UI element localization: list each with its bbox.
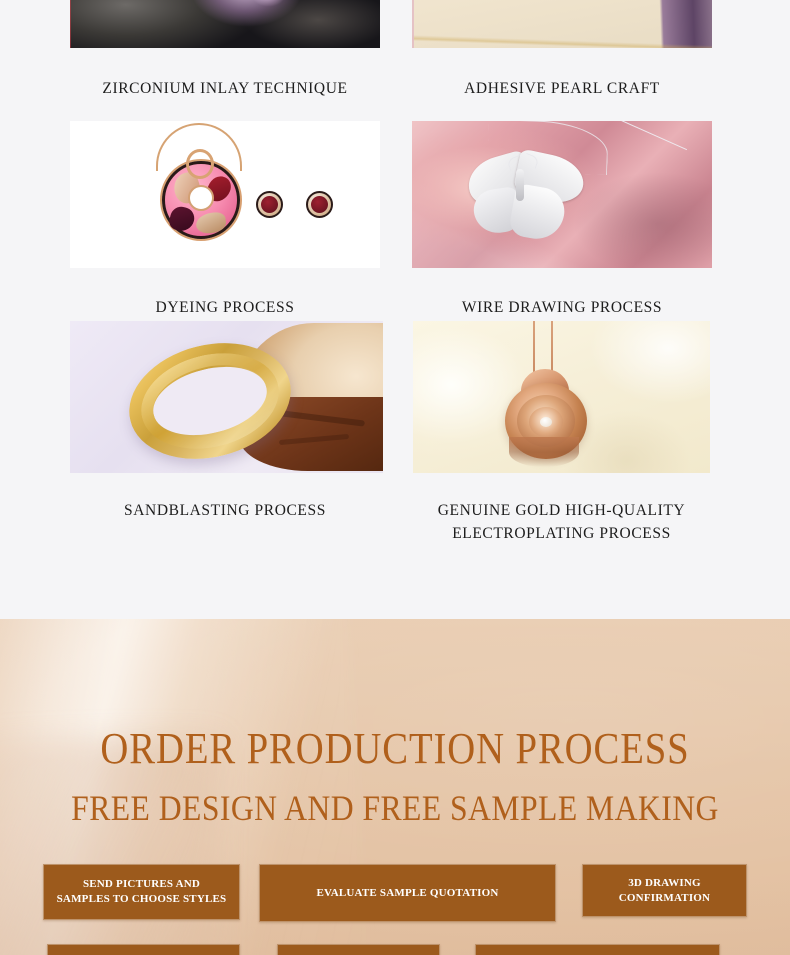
gold-electroplating-rose-pendant-photo — [413, 321, 710, 473]
craft-card-zirconium-inlay[interactable]: ZIRCONIUM INLAY TECHNIQUE — [70, 0, 380, 100]
craft-row-3: SANDBLASTING PROCESS GENUINE GOLD HIGH-Q… — [0, 321, 790, 551]
craft-card-gold-electroplating[interactable]: GENUINE GOLD HIGH-QUALITY ELECTROPLATING… — [413, 321, 710, 545]
process-steps-row-2 — [0, 944, 790, 955]
dyeing-process-pendant-photo — [70, 121, 380, 268]
craft-row-2: DYEING PROCESS WIRE DRAWING PROCESS — [0, 121, 790, 321]
process-step-send-pictures[interactable]: SEND PICTURES AND SAMPLES TO CHOOSE STYL… — [43, 864, 240, 920]
process-step-3d-drawing[interactable]: 3D DRAWING CONFIRMATION — [582, 864, 747, 917]
process-step-row2-2[interactable] — [277, 944, 440, 955]
process-step-row2-3[interactable] — [475, 944, 720, 955]
process-step-row2-1[interactable] — [47, 944, 240, 955]
adhesive-pearl-ring-photo — [412, 0, 712, 48]
wire-drawing-butterfly-photo — [412, 121, 712, 268]
craft-card-dyeing[interactable]: DYEING PROCESS — [70, 121, 380, 319]
craft-card-wire-drawing[interactable]: WIRE DRAWING PROCESS — [412, 121, 712, 319]
craft-card-adhesive-pearl[interactable]: ADHESIVE PEARL CRAFT — [412, 0, 712, 100]
craft-caption: SANDBLASTING PROCESS — [70, 499, 380, 522]
order-production-title: ORDER PRODUCTION PROCESS — [47, 723, 742, 774]
craft-caption: DYEING PROCESS — [70, 296, 380, 319]
craft-process-section: ZIRCONIUM INLAY TECHNIQUE ADHESIVE PEARL… — [0, 0, 790, 619]
craft-caption: ZIRCONIUM INLAY TECHNIQUE — [70, 77, 380, 100]
craft-caption: WIRE DRAWING PROCESS — [412, 296, 712, 319]
order-production-process-section: ORDER PRODUCTION PROCESS FREE DESIGN AND… — [0, 619, 790, 955]
craft-caption: GENUINE GOLD HIGH-QUALITY ELECTROPLATING… — [413, 499, 710, 545]
zirconium-inlay-ring-photo — [70, 0, 380, 48]
free-design-subtitle: FREE DESIGN AND FREE SAMPLE MAKING — [47, 787, 742, 829]
craft-row-1: ZIRCONIUM INLAY TECHNIQUE ADHESIVE PEARL… — [0, 0, 790, 115]
craft-card-sandblasting[interactable]: SANDBLASTING PROCESS — [70, 321, 380, 522]
craft-caption: ADHESIVE PEARL CRAFT — [412, 77, 712, 100]
process-steps-row-1: SEND PICTURES AND SAMPLES TO CHOOSE STYL… — [0, 864, 790, 922]
process-step-evaluate-quotation[interactable]: EVALUATE SAMPLE QUOTATION — [259, 864, 556, 922]
sandblasting-ring-photo — [70, 321, 383, 473]
